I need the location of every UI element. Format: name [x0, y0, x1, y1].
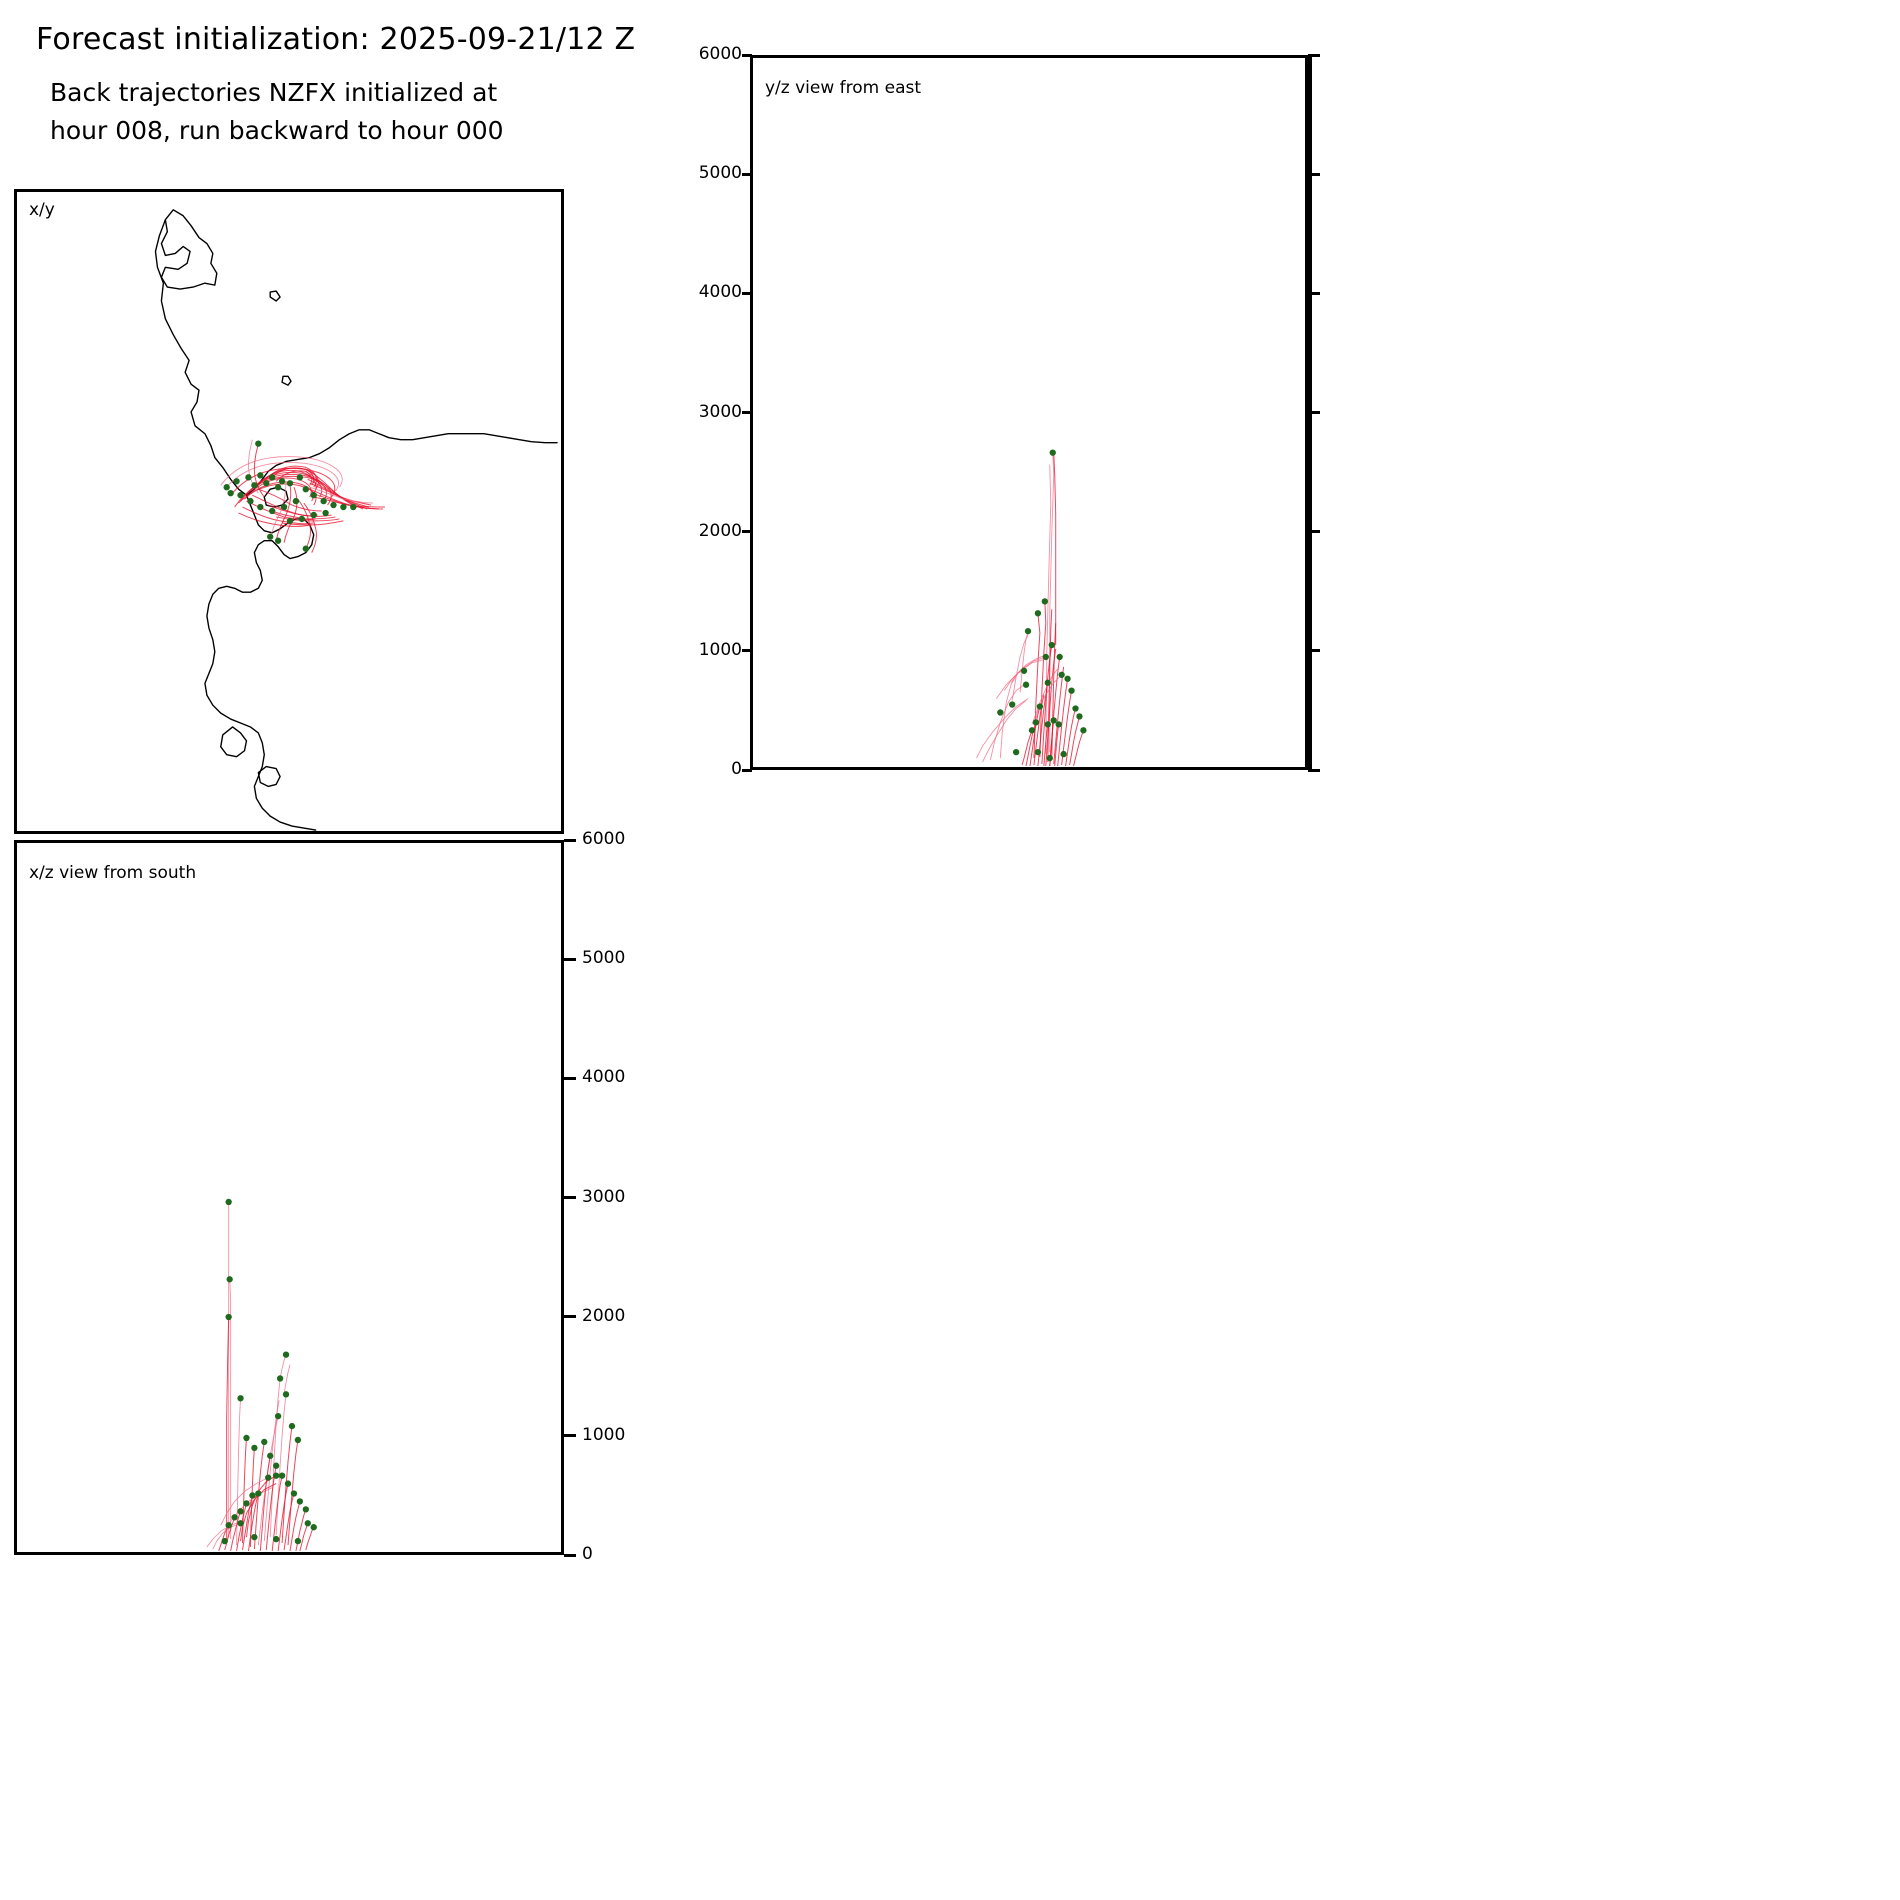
xz-tick-label: 6000: [582, 829, 652, 849]
panel-xz-label: x/z view from south: [29, 863, 196, 883]
yz-tick-label: 0: [672, 759, 742, 779]
panel-xy-map: x/y: [14, 189, 564, 834]
yz-tick-mark: [742, 54, 752, 57]
yz-outer-tick-mark: [1308, 292, 1320, 295]
xz-tick-mark: [564, 1434, 576, 1437]
xz-tick-label: 3000: [582, 1187, 652, 1207]
xz-tick-mark: [564, 1077, 576, 1080]
xz-tick-mark: [564, 1315, 576, 1318]
yz-tick-label: 5000: [672, 163, 742, 183]
yz-tick-label: 2000: [672, 521, 742, 541]
trajectory-lines-xy: [221, 440, 385, 553]
panel-yz-label: y/z view from east: [765, 78, 921, 98]
endpoint-markers-yz: [997, 449, 1086, 761]
xz-tick-label: 4000: [582, 1067, 652, 1087]
xz-tick-mark: [564, 958, 576, 961]
yz-plot-svg: [753, 58, 1305, 767]
xy-plot-svg: [17, 192, 561, 831]
xz-tick-mark: [564, 839, 576, 842]
yz-outer-tick-mark: [1308, 411, 1320, 414]
endpoint-markers-xz: [222, 1199, 317, 1544]
yz-tick-label: 6000: [672, 44, 742, 64]
page-title: Forecast initialization: 2025-09-21/12 Z: [36, 22, 635, 57]
yz-tick-mark: [742, 411, 752, 414]
xz-tick-label: 0: [582, 1544, 652, 1564]
panel-yz-cross-section: y/z view from east: [750, 55, 1308, 770]
panel-xy-label: x/y: [29, 200, 55, 220]
page-subtitle: Back trajectories NZFX initialized at ho…: [50, 74, 504, 150]
yz-tick-mark: [742, 649, 752, 652]
xz-tick-label: 1000: [582, 1425, 652, 1445]
xz-plot-svg: [17, 843, 561, 1552]
xz-tick-mark: [564, 1196, 576, 1199]
trajectory-lines-xz: [207, 1202, 314, 1551]
yz-outer-tick-mark: [1308, 649, 1320, 652]
yz-outer-tick-mark: [1308, 54, 1320, 57]
yz-tick-mark: [742, 769, 752, 772]
xz-tick-label: 2000: [582, 1306, 652, 1326]
panel-xz-cross-section: x/z view from south: [14, 840, 564, 1555]
xz-tick-label: 5000: [582, 948, 652, 968]
yz-tick-label: 3000: [672, 402, 742, 422]
trajectory-lines-yz: [977, 453, 1084, 766]
yz-tick-mark: [742, 530, 752, 533]
yz-tick-mark: [742, 292, 752, 295]
coastline-group: [155, 210, 557, 830]
yz-tick-mark: [742, 173, 752, 176]
yz-outer-tick-mark: [1308, 173, 1320, 176]
yz-outer-tick-mark: [1308, 769, 1320, 772]
xz-tick-mark: [564, 1554, 576, 1557]
yz-tick-label: 4000: [672, 282, 742, 302]
yz-tick-label: 1000: [672, 640, 742, 660]
yz-outer-tick-mark: [1308, 530, 1320, 533]
